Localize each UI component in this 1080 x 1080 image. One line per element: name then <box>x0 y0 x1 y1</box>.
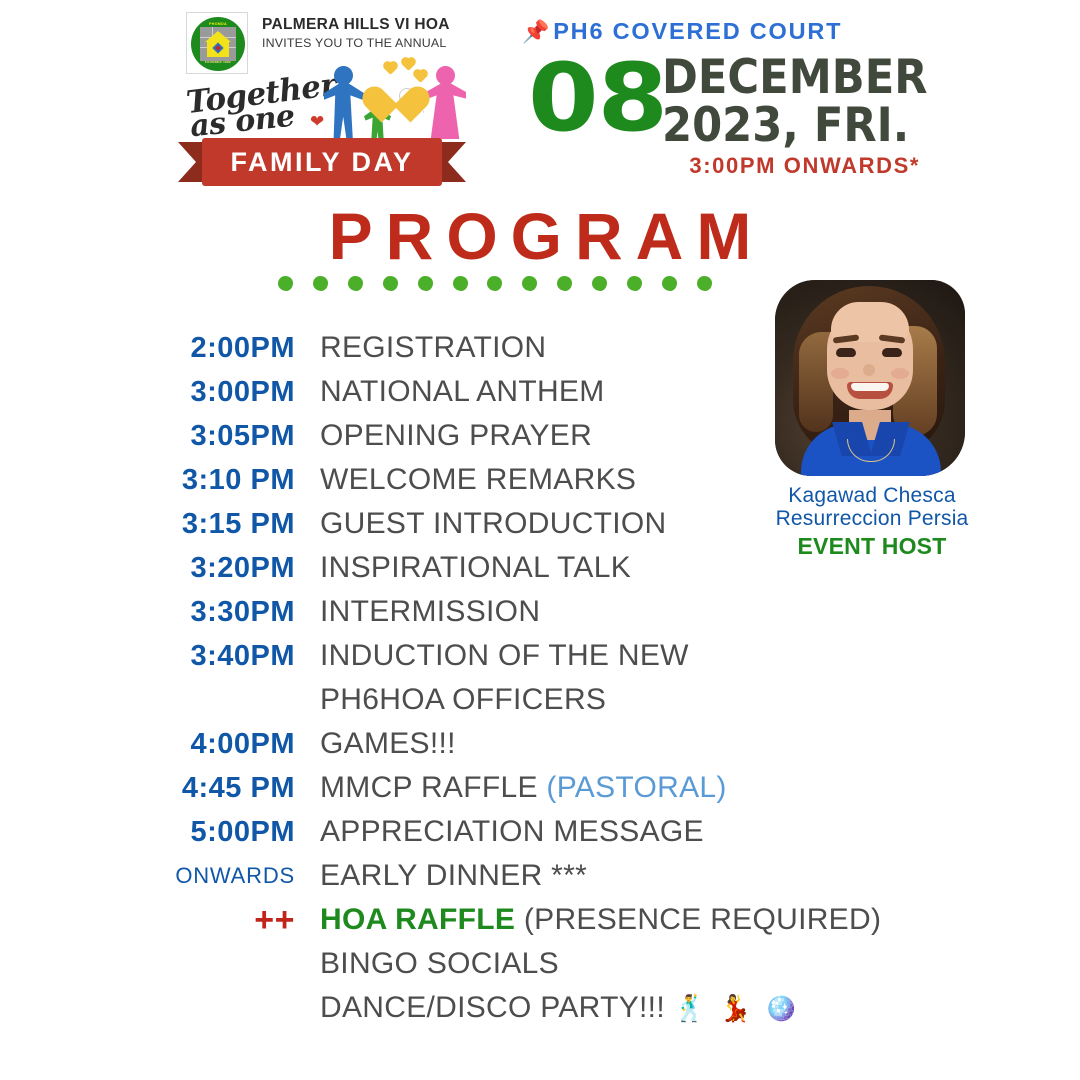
schedule-event-text: OPENING PRAYER <box>320 419 592 452</box>
schedule-event-text: REGISTRATION <box>320 331 546 364</box>
divider-dot <box>662 276 677 291</box>
event-month: DECEMBER <box>662 54 901 102</box>
schedule-time: 5:00PM <box>0 810 295 854</box>
yellow-heart-icon <box>378 80 422 120</box>
hoa-seal-logo: PHOMDA FOUNDED 1982 <box>186 12 248 74</box>
schedule-row: 3:20PMINSPIRATIONAL TALK <box>0 546 760 590</box>
divider-dot <box>418 276 433 291</box>
schedule-row: PH6HOA OFFICERS <box>0 678 760 722</box>
schedule-time: 3:15 PM <box>0 502 295 546</box>
divider-dot <box>348 276 363 291</box>
schedule-event: DANCE/DISCO PARTY!!! 🕺 💃 🪩 <box>320 986 800 1030</box>
schedule-event: PH6HOA OFFICERS <box>320 678 606 722</box>
schedule-row: 3:00PMNATIONAL ANTHEM <box>0 370 760 414</box>
schedule-time: ++ <box>0 898 295 942</box>
schedule-row: 5:00PMAPPRECIATION MESSAGE <box>0 810 760 854</box>
event-day-number: 08 <box>528 52 667 146</box>
pushpin-icon: 📌 <box>522 19 551 44</box>
schedule-time: 3:05PM <box>0 414 295 458</box>
mini-heart-icon-1 <box>384 62 397 75</box>
ribbon-label: FAMILY DAY <box>202 138 442 186</box>
schedule-event: APPRECIATION MESSAGE <box>320 810 704 854</box>
divider-dot <box>697 276 712 291</box>
divider-dot <box>522 276 537 291</box>
schedule-event-text: EARLY DINNER *** <box>320 859 587 892</box>
host-name: Kagawad Chesca Resurreccion Persia <box>767 484 977 530</box>
schedule-event: GAMES!!! <box>320 722 456 766</box>
event-year-weekday: 2023, FRI. <box>662 102 901 150</box>
host-name-line-1: Kagawad Chesca <box>767 484 977 507</box>
schedule-event-note: (PASTORAL) <box>546 771 726 804</box>
host-name-line-2: Resurreccion Persia <box>767 507 977 530</box>
schedule-event-text: GAMES!!! <box>320 727 456 760</box>
page-title: PROGRAM <box>0 198 1080 274</box>
schedule-row: ONWARDSEARLY DINNER *** <box>0 854 760 898</box>
host-photo <box>775 280 965 476</box>
schedule-event-text: WELCOME REMARKS <box>320 463 636 496</box>
schedule-event: OPENING PRAYER <box>320 414 592 458</box>
schedule-time: 3:30PM <box>0 590 295 634</box>
schedule-row: 3:15 PMGUEST INTRODUCTION <box>0 502 760 546</box>
schedule-time: 3:10 PM <box>0 458 295 502</box>
schedule-time: 4:45 PM <box>0 766 295 810</box>
schedule-row: 3:40PMINDUCTION OF THE NEW <box>0 634 760 678</box>
schedule-row: BINGO SOCIALS <box>0 942 760 986</box>
poster-header: PHOMDA FOUNDED 1982 PALMERA HILLS VI HOA… <box>0 0 1080 192</box>
schedule-event: NATIONAL ANTHEM <box>320 370 605 414</box>
schedule-event: WELCOME REMARKS <box>320 458 636 502</box>
schedule-time: 3:00PM <box>0 370 295 414</box>
event-month-year: DECEMBER 2023, FRI. <box>662 54 922 150</box>
venue-line: 📌PH6 COVERED COURT <box>522 18 842 45</box>
decorative-dot-divider <box>278 272 712 294</box>
schedule-event: REGISTRATION <box>320 326 546 370</box>
schedule-event: GUEST INTRODUCTION <box>320 502 667 546</box>
divider-dot <box>627 276 642 291</box>
schedule-event-text: BINGO SOCIALS <box>320 947 559 980</box>
schedule-event-text: APPRECIATION MESSAGE <box>320 815 704 848</box>
schedule-event: HOA RAFFLE (PRESENCE REQUIRED) <box>320 898 881 942</box>
schedule-row: 3:10 PMWELCOME REMARKS <box>0 458 760 502</box>
divider-dot <box>487 276 502 291</box>
schedule-row: 4:00PMGAMES!!! <box>0 722 760 766</box>
event-time-note: 3:00PM ONWARDS* <box>689 153 920 179</box>
schedule-event-text: DANCE/DISCO PARTY!!! <box>320 991 674 1024</box>
schedule-event-text: MMCP RAFFLE <box>320 771 546 804</box>
dancing-emoji-icons: 🕺 💃 🪩 <box>674 993 801 1023</box>
mini-heart-icon-2 <box>402 58 415 71</box>
divider-dot <box>313 276 328 291</box>
schedule-time: 2:00PM <box>0 326 295 370</box>
schedule-row: 2:00PMREGISTRATION <box>0 326 760 370</box>
divider-dot <box>592 276 607 291</box>
divider-dot <box>278 276 293 291</box>
schedule-event-text: INTERMISSION <box>320 595 540 628</box>
schedule-time: 3:20PM <box>0 546 295 590</box>
event-host-card: Kagawad Chesca Resurreccion Persia EVENT… <box>775 280 975 560</box>
schedule-event: EARLY DINNER *** <box>320 854 587 898</box>
schedule-event: INDUCTION OF THE NEW <box>320 634 689 678</box>
program-schedule-list: 2:00PMREGISTRATION3:00PMNATIONAL ANTHEM3… <box>0 326 760 1030</box>
divider-dot <box>557 276 572 291</box>
schedule-time: 3:40PM <box>0 634 295 678</box>
organization-branding: PHOMDA FOUNDED 1982 PALMERA HILLS VI HOA… <box>176 4 476 189</box>
host-role-label: EVENT HOST <box>767 533 977 560</box>
schedule-event-text: (PRESENCE REQUIRED) <box>515 903 881 936</box>
seal-bottom-text: FOUNDED 1982 <box>187 60 249 64</box>
schedule-row: 3:05PMOPENING PRAYER <box>0 414 760 458</box>
divider-dot <box>383 276 398 291</box>
schedule-event-text: INSPIRATIONAL TALK <box>320 551 631 584</box>
schedule-event-text: GUEST INTRODUCTION <box>320 507 667 540</box>
schedule-event-text: PH6HOA OFFICERS <box>320 683 606 716</box>
schedule-event: MMCP RAFFLE (PASTORAL) <box>320 766 727 810</box>
event-date-block: 📌PH6 COVERED COURT 08 DECEMBER 2023, FRI… <box>510 10 930 190</box>
schedule-time: 4:00PM <box>0 722 295 766</box>
schedule-row: DANCE/DISCO PARTY!!! 🕺 💃 🪩 <box>0 986 760 1030</box>
small-heart-icon: ❤ <box>310 112 324 132</box>
seal-top-text: PHOMDA <box>187 22 249 26</box>
organization-name: PALMERA HILLS VI HOA <box>262 16 450 34</box>
schedule-event-highlight: HOA RAFFLE <box>320 903 515 936</box>
organization-tagline: INVITES YOU TO THE ANNUAL <box>262 36 447 50</box>
family-figures-illustration <box>324 62 469 140</box>
schedule-row: 4:45 PMMMCP RAFFLE (PASTORAL) <box>0 766 760 810</box>
schedule-event: INTERMISSION <box>320 590 540 634</box>
schedule-row: ++HOA RAFFLE (PRESENCE REQUIRED) <box>0 898 760 942</box>
schedule-row: 3:30PMINTERMISSION <box>0 590 760 634</box>
family-day-ribbon: FAMILY DAY <box>178 138 466 186</box>
schedule-event-text: INDUCTION OF THE NEW <box>320 639 689 672</box>
schedule-event-text: NATIONAL ANTHEM <box>320 375 605 408</box>
divider-dot <box>453 276 468 291</box>
together-as-one-script: Together as one ❤ <box>186 76 336 138</box>
schedule-event: BINGO SOCIALS <box>320 942 559 986</box>
venue-label: PH6 COVERED COURT <box>553 18 842 44</box>
schedule-event: INSPIRATIONAL TALK <box>320 546 631 590</box>
schedule-time: ONWARDS <box>0 854 295 898</box>
